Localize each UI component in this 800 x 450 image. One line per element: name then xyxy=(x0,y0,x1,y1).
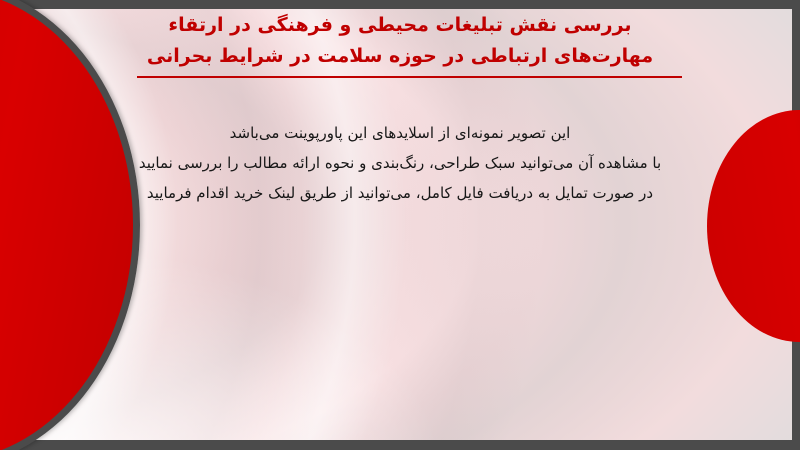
presentation-slide: بررسی نقش تبلیغات محیطی و فرهنگی در ارتق… xyxy=(0,0,800,450)
slide-frame-top xyxy=(0,0,800,9)
slide-body-text: این تصویر نمونه‌ای از اسلایدهای این پاور… xyxy=(100,118,700,208)
title-underline-rule xyxy=(137,76,682,78)
slide-title-line-1: بررسی نقش تبلیغات محیطی و فرهنگی در ارتق… xyxy=(110,10,690,41)
slide-title: بررسی نقش تبلیغات محیطی و فرهنگی در ارتق… xyxy=(110,10,690,72)
slide-title-line-2: مهارت‌های ارتباطی در حوزه سلامت در شرایط… xyxy=(110,41,690,72)
slide-frame-bottom xyxy=(0,440,800,450)
slide-body-line-2: با مشاهده آن می‌توانید سبک طراحی، رنگ‌بن… xyxy=(100,148,700,178)
slide-body-line-3: در صورت تمایل به دریافت فایل کامل، می‌تو… xyxy=(100,178,700,208)
slide-body-line-1: این تصویر نمونه‌ای از اسلایدهای این پاور… xyxy=(100,118,700,148)
